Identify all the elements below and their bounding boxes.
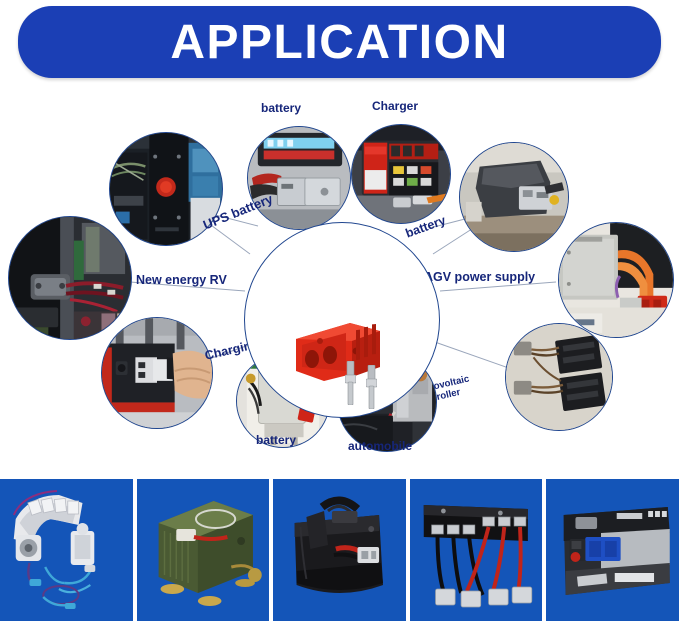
node-battery-top[interactable]: [247, 126, 351, 230]
node-solar-controller[interactable]: [505, 323, 613, 431]
photo-battery-right: [460, 143, 568, 251]
label-battery-bottom: battery: [256, 434, 296, 447]
photo-charging-station: [102, 318, 212, 428]
photo-solar-controller: [506, 324, 612, 430]
node-charger[interactable]: [351, 124, 451, 224]
label-automobile: automobile: [348, 440, 412, 453]
page-title: APPLICATION: [18, 6, 661, 78]
label-new-energy-rv: New energy RV: [136, 273, 227, 287]
photo-green-military-battery-box: [137, 479, 270, 621]
photo-black-battery-bag: [273, 479, 406, 621]
connector-terminal-1: [345, 361, 356, 405]
label-battery-top: battery: [261, 102, 301, 115]
product-photo-strip: [0, 479, 679, 621]
connector-terminal-2: [366, 365, 377, 409]
photo-charger: [352, 125, 450, 223]
photo-battery-pack-blue-connector: [546, 479, 679, 621]
product-cell-green-battery-box[interactable]: [137, 479, 270, 621]
photo-busbar-harness: [410, 479, 543, 621]
node-charging-station[interactable]: [101, 317, 213, 429]
center-product-circle: [244, 222, 440, 418]
product-cell-battery-pack-blue-connector[interactable]: [546, 479, 679, 621]
label-agv-power-supply: AGV power supply: [424, 270, 535, 284]
application-infographic: APPLICATION: [0, 0, 679, 621]
application-banner: APPLICATION: [18, 6, 661, 78]
node-battery-right[interactable]: [459, 142, 569, 252]
label-charger: Charger: [372, 100, 418, 113]
product-cell-black-battery-bag[interactable]: [273, 479, 406, 621]
node-agv-power-supply[interactable]: [558, 222, 674, 338]
photo-agv-power-supply: [559, 223, 673, 337]
product-cell-battery-module-assembly[interactable]: [0, 479, 133, 621]
application-diagram: battery: [0, 86, 679, 471]
photo-battery-top: [248, 127, 350, 229]
product-cell-busbar-harness[interactable]: [410, 479, 543, 621]
photo-battery-module-assembly: [0, 479, 133, 621]
